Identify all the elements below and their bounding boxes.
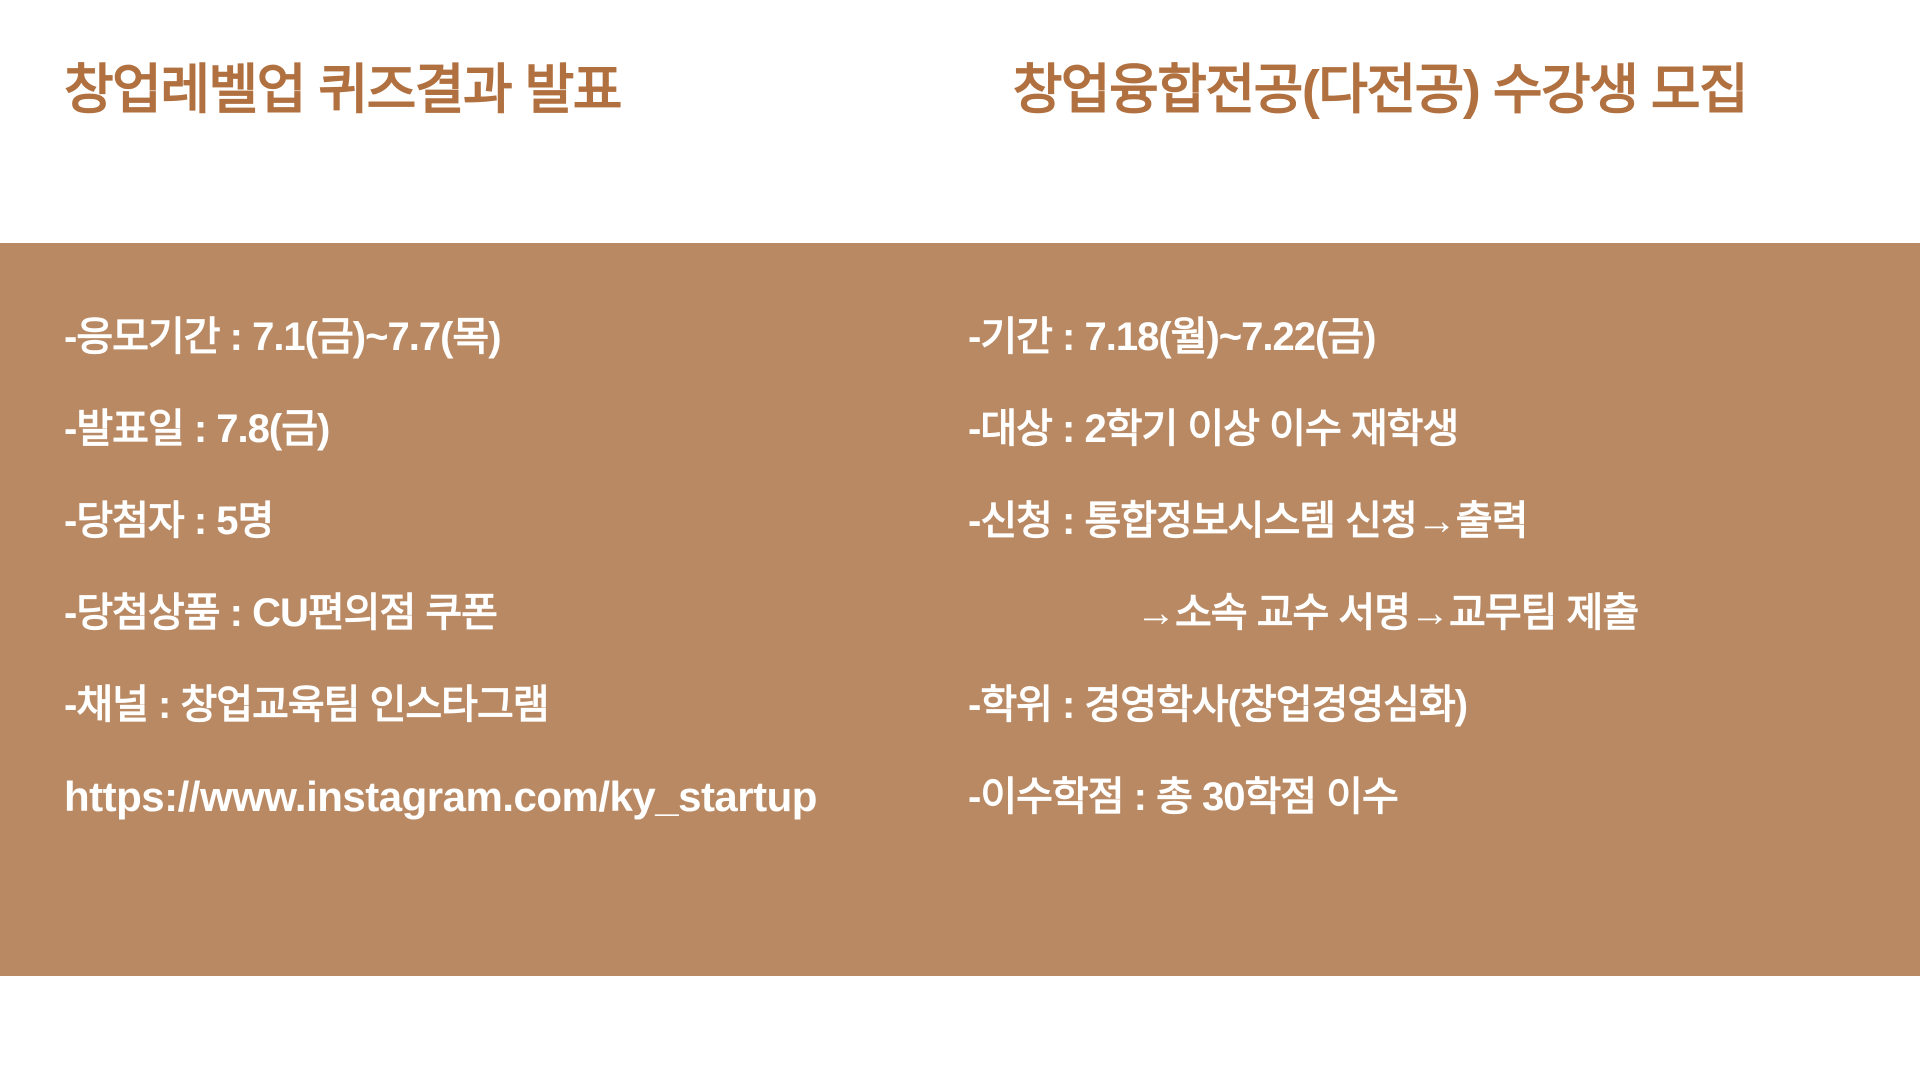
body-band: -응모기간 : 7.1(금)~7.7(목)-발표일 : 7.8(금)-당첨자 :… (0, 243, 1920, 976)
left-column-lines: -응모기간 : 7.1(금)~7.7(목)-발표일 : 7.8(금)-당첨자 :… (64, 315, 944, 867)
right-column-lines: -기간 : 7.18(월)~7.22(금)-대상 : 2학기 이상 이수 재학생… (968, 315, 1868, 867)
info-line: -신청 : 통합정보시스템 신청→출력 (968, 499, 1868, 543)
right-column: -기간 : 7.18(월)~7.22(금)-대상 : 2학기 이상 이수 재학생… (968, 243, 1868, 976)
info-line: -발표일 : 7.8(금) (64, 407, 944, 451)
info-line: -응모기간 : 7.1(금)~7.7(목) (64, 315, 944, 359)
poster-canvas: 창업레벨업 퀴즈결과 발표 창업융합전공(다전공) 수강생 모집 -응모기간 :… (0, 0, 1920, 1080)
info-line: -채널 : 창업교육팀 인스타그램 (64, 683, 944, 727)
info-line: -당첨상품 : CU편의점 쿠폰 (64, 591, 944, 635)
info-line: -대상 : 2학기 이상 이수 재학생 (968, 407, 1868, 451)
left-section-title: 창업레벨업 퀴즈결과 발표 (64, 62, 621, 207)
left-column: -응모기간 : 7.1(금)~7.7(목)-발표일 : 7.8(금)-당첨자 :… (64, 243, 944, 976)
footer-band (0, 976, 1920, 1080)
info-line: -당첨자 : 5명 (64, 499, 944, 543)
info-line: →소속 교수 서명→교무팀 제출 (968, 591, 1868, 635)
right-section-title: 창업융합전공(다전공) 수강생 모집 (1013, 62, 1748, 207)
instagram-url-text[interactable]: https://www.instagram.com/ky_startup (64, 775, 944, 819)
header-band: 창업레벨업 퀴즈결과 발표 창업융합전공(다전공) 수강생 모집 (0, 0, 1920, 243)
info-line: -기간 : 7.18(월)~7.22(금) (968, 315, 1868, 359)
info-line: -학위 : 경영학사(창업경영심화) (968, 683, 1868, 727)
info-line: -이수학점 : 총 30학점 이수 (968, 775, 1868, 819)
